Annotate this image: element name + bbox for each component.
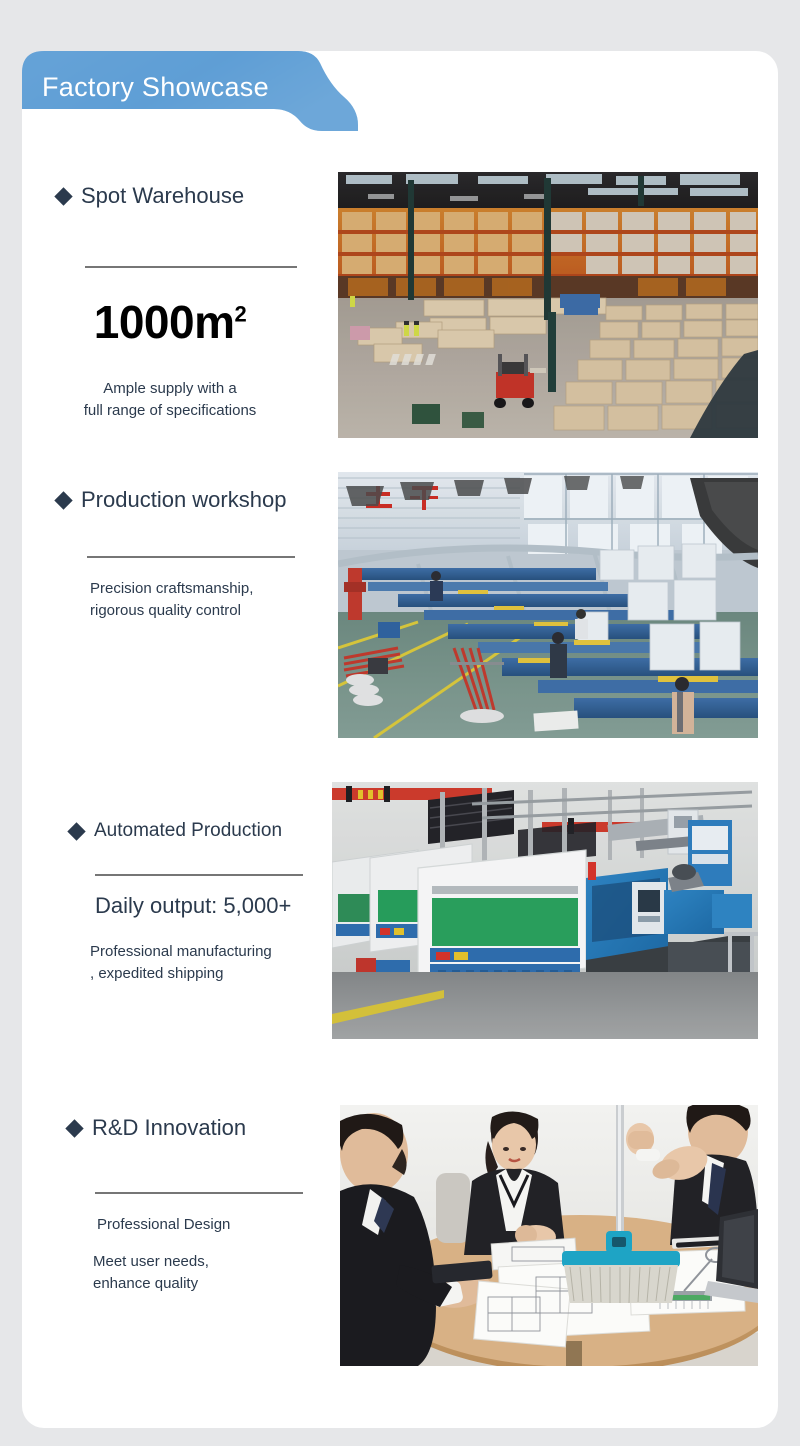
description-line-1: Precision craftsmanship, — [90, 578, 320, 600]
section-description: Precision craftsmanship, rigorous qualit… — [90, 578, 320, 622]
section-description: Professional manufacturing , expedited s… — [90, 941, 330, 985]
metric-value: 1000m2 — [30, 295, 310, 349]
section-description: Ample supply with a full range of specif… — [30, 378, 310, 422]
description-line-1: Ample supply with a — [30, 378, 310, 400]
factory-showcase-page: Factory Showcase Spot Warehouse 1000m2 A… — [0, 0, 800, 1446]
section-title: R&D Innovation — [92, 1115, 246, 1141]
section-heading: Automated Production — [70, 820, 330, 842]
metric-automated-production: Daily output: 5,000+ — [95, 893, 291, 919]
description-line-2: rigorous quality control — [90, 600, 320, 622]
section-divider — [87, 556, 295, 558]
section-heading: Production workshop — [57, 487, 317, 513]
diamond-bullet-icon — [67, 822, 85, 840]
description-line-2: , expedited shipping — [90, 963, 330, 985]
diamond-bullet-icon — [54, 187, 72, 205]
section-automated-production: Automated Production — [70, 820, 330, 842]
diamond-bullet-icon — [65, 1119, 83, 1137]
section-divider — [95, 1192, 303, 1194]
section-spot-warehouse: Spot Warehouse — [57, 183, 307, 209]
metric-block-spot-warehouse: 1000m2 — [30, 295, 310, 349]
section-rd-innovation: R&D Innovation — [68, 1115, 328, 1141]
description-line-2: enhance quality — [93, 1273, 323, 1295]
section-title: Spot Warehouse — [81, 183, 244, 209]
section-divider — [95, 874, 303, 876]
photo-spot-warehouse — [338, 172, 758, 438]
section-title: Production workshop — [81, 487, 286, 513]
section-description: Meet user needs, enhance quality — [93, 1251, 323, 1295]
photo-production-workshop — [338, 472, 758, 738]
description-line-1: Meet user needs, — [93, 1251, 323, 1273]
photo-rd-innovation — [340, 1105, 758, 1366]
page-title: Factory Showcase — [42, 72, 269, 103]
section-title: Automated Production — [94, 820, 282, 842]
description-line-2: full range of specifications — [30, 400, 310, 422]
section-heading: Spot Warehouse — [57, 183, 307, 209]
diamond-bullet-icon — [54, 491, 72, 509]
section-heading: R&D Innovation — [68, 1115, 328, 1141]
photo-automated-production — [332, 782, 758, 1039]
description-line-1: Professional manufacturing — [90, 941, 330, 963]
metric-rd-innovation: Professional Design — [97, 1214, 327, 1236]
section-production-workshop: Production workshop — [57, 487, 317, 513]
section-divider — [85, 266, 297, 268]
